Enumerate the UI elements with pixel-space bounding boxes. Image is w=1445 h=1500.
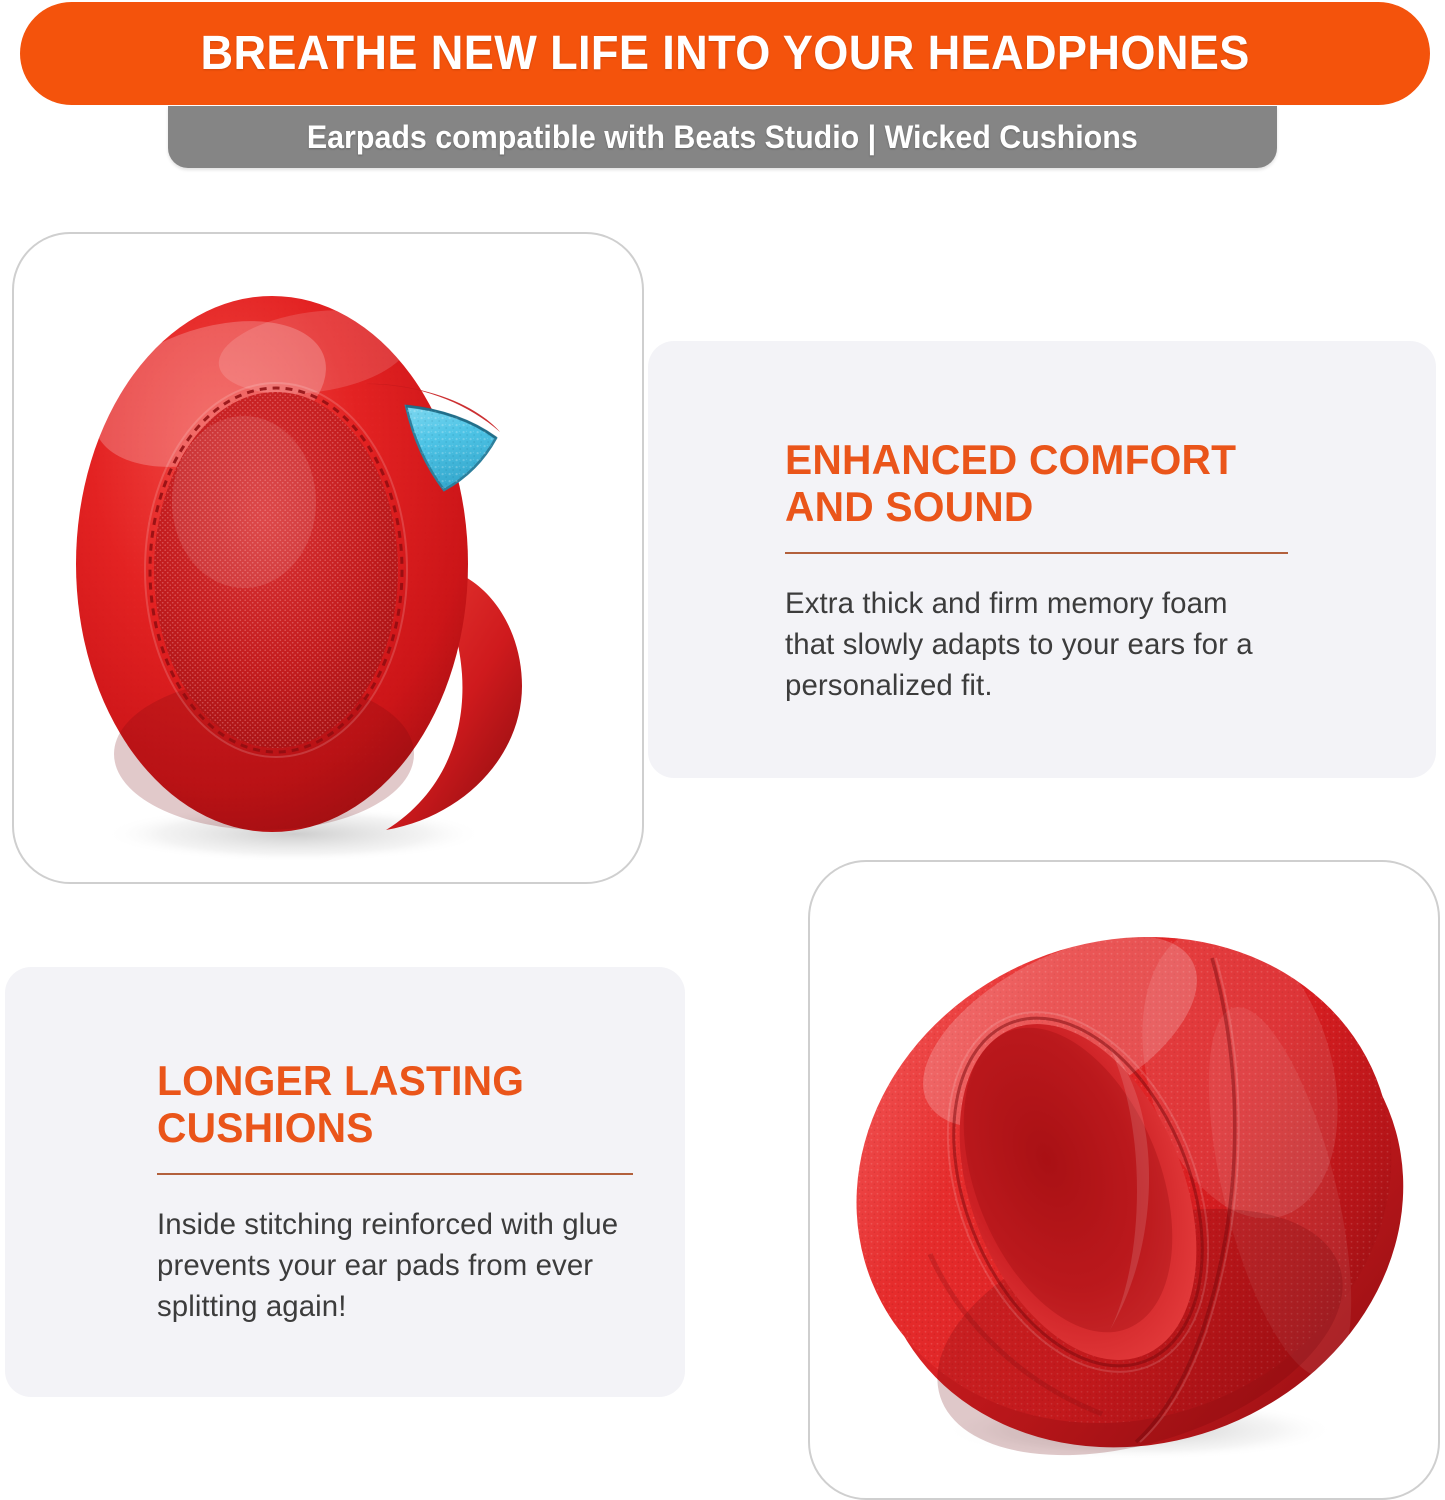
feature-body-enhanced-comfort: Extra thick and firm memory foam that sl… bbox=[785, 584, 1295, 706]
product-photo-cutaway bbox=[14, 234, 642, 882]
product-photo-angled-card bbox=[808, 860, 1440, 1500]
product-photo-cutaway-card bbox=[12, 232, 644, 884]
header-area: BREATHE NEW LIFE INTO YOUR HEADPHONES Ea… bbox=[0, 0, 1445, 190]
feature-card-enhanced-comfort: ENHANCED COMFORT AND SOUND Extra thick a… bbox=[648, 341, 1436, 778]
title-banner: BREATHE NEW LIFE INTO YOUR HEADPHONES bbox=[20, 2, 1430, 105]
feature-heading-enhanced-comfort: ENHANCED COMFORT AND SOUND bbox=[785, 436, 1289, 530]
subtitle-banner: Earpads compatible with Beats Studio | W… bbox=[168, 106, 1277, 168]
page-subtitle: Earpads compatible with Beats Studio | W… bbox=[307, 119, 1138, 156]
feature-body-longer-lasting: Inside stitching reinforced with glue pr… bbox=[157, 1205, 647, 1327]
page-title: BREATHE NEW LIFE INTO YOUR HEADPHONES bbox=[200, 26, 1249, 81]
feature-divider bbox=[157, 1173, 633, 1175]
feature-card-longer-lasting: LONGER LASTING CUSHIONS Inside stitching… bbox=[5, 967, 685, 1397]
feature-heading-longer-lasting: LONGER LASTING CUSHIONS bbox=[157, 1057, 642, 1151]
product-photo-angled bbox=[810, 862, 1438, 1498]
feature-divider bbox=[785, 552, 1288, 554]
earpad-cutaway-illustration bbox=[14, 234, 642, 882]
earpad-angled-illustration bbox=[810, 862, 1438, 1498]
